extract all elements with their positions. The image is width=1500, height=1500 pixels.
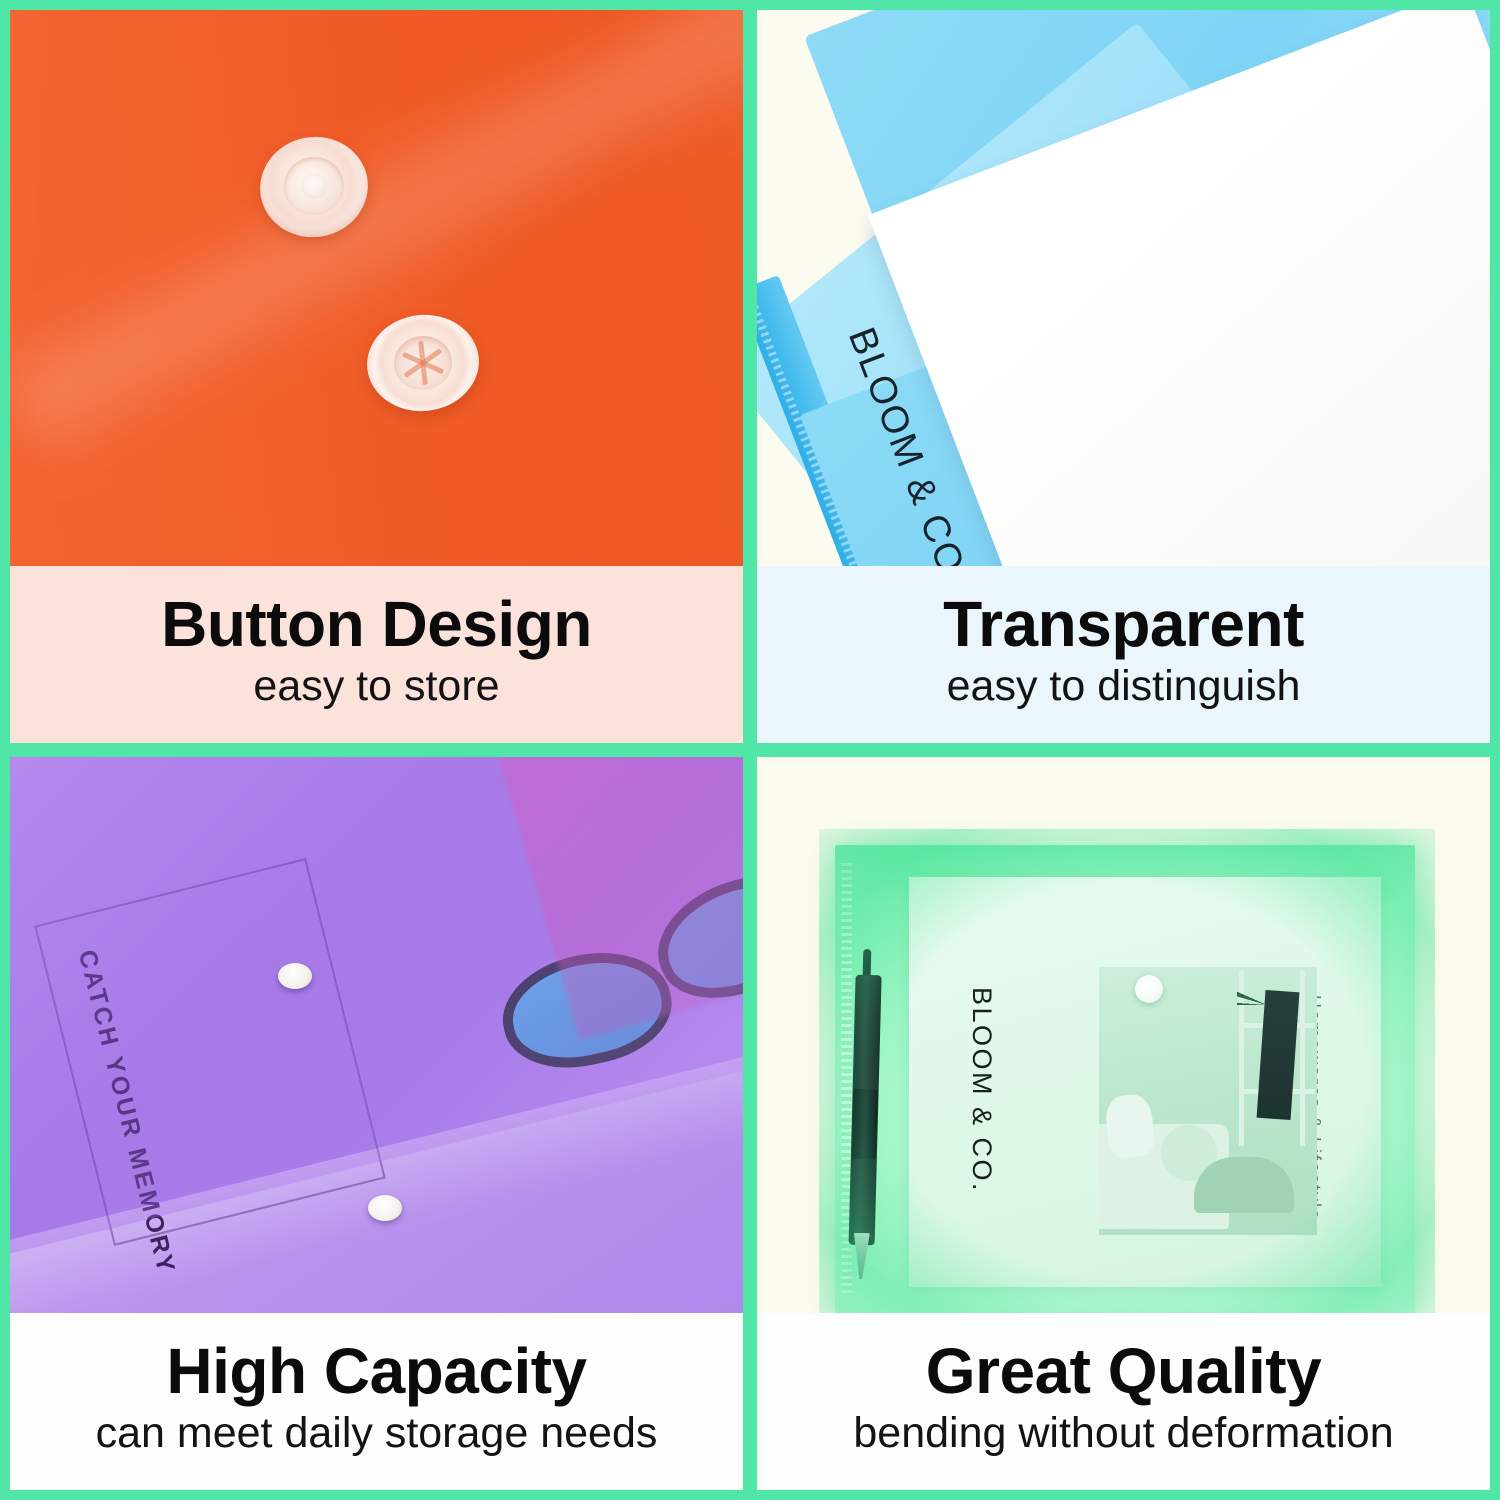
snap-button-bottom-icon [368,1195,402,1221]
panel-headline: Transparent [943,591,1304,658]
feature-panel-great-quality: BLOOM & CO. Homewares & Lifestyle [757,757,1490,1490]
caption-high-capacity: High Capacity can meet daily storage nee… [10,1313,743,1490]
product-photo-great-quality: BLOOM & CO. Homewares & Lifestyle [757,757,1490,1313]
snap-button-icon [1135,975,1163,1003]
caption-button-design: Button Design easy to store [10,566,743,743]
product-photo-transparent: BLOOM & CO. [757,10,1490,566]
panel-subtitle: easy to distinguish [947,662,1301,711]
panel-headline: High Capacity [166,1338,586,1405]
feature-panel-high-capacity: CATCH YOUR MEMORY High Capacity can meet… [10,757,743,1490]
brochure-brand-text: BLOOM & CO. [966,987,997,1193]
panel-subtitle: easy to store [253,662,499,711]
feature-panel-button-design: Button Design easy to store [10,10,743,743]
brochure-inset-photo [1099,967,1317,1235]
snap-button-top-icon [278,963,312,989]
brochure: BLOOM & CO. Homewares & Lifestyle [909,877,1381,1287]
panel-subtitle: can meet daily storage needs [96,1409,658,1458]
caption-great-quality: Great Quality bending without deformatio… [757,1313,1490,1490]
product-photo-button-design [10,10,743,566]
table-shape [1194,1157,1294,1213]
panel-headline: Great Quality [926,1338,1321,1405]
panel-headline: Button Design [161,591,592,658]
feature-panel-transparent: BLOOM & CO. Transparent easy to distingu… [757,10,1490,743]
panel-subtitle: bending without deformation [853,1409,1393,1458]
product-feature-infographic: Button Design easy to store BLOOM & CO. … [0,0,1500,1500]
plant-icon [1237,967,1297,1005]
vase-shape [1104,1093,1156,1159]
product-photo-high-capacity: CATCH YOUR MEMORY [10,757,743,1313]
caption-transparent: Transparent easy to distinguish [757,566,1490,743]
